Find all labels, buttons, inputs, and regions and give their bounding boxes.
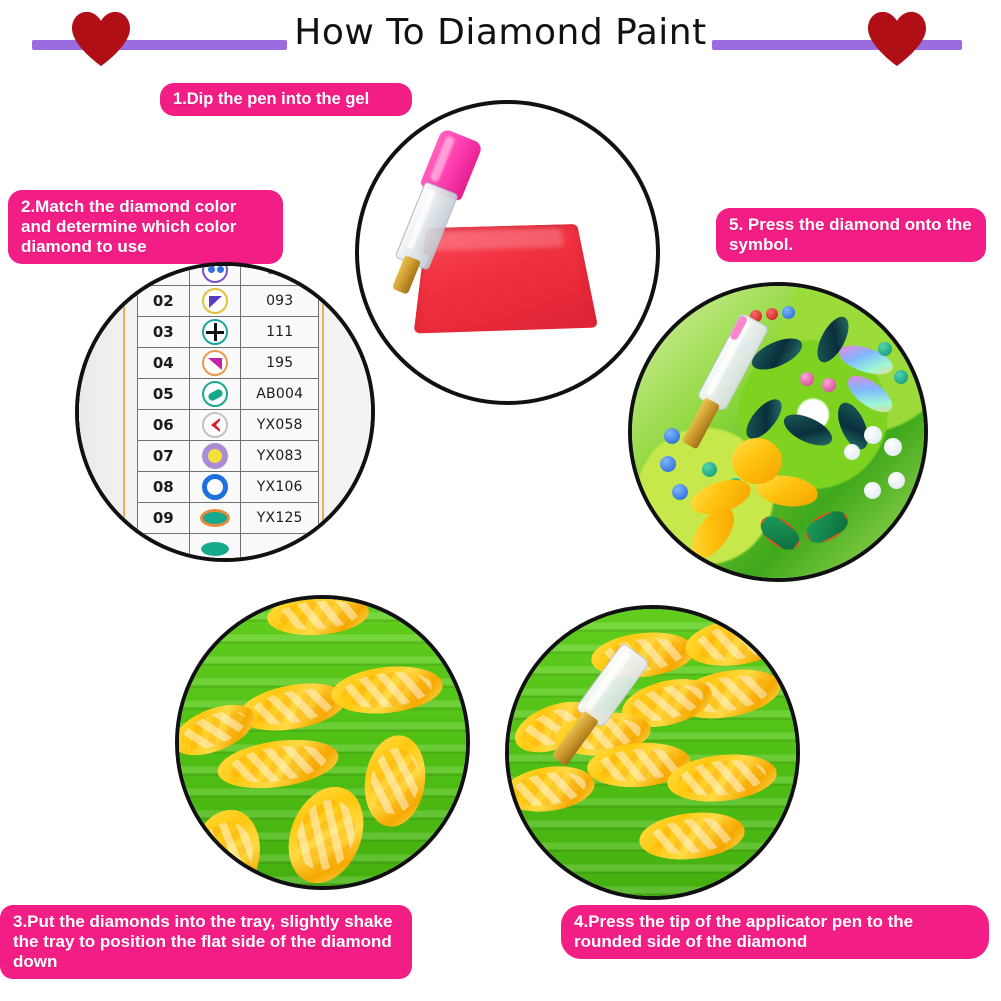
page-title: How To Diamond Paint	[0, 12, 1001, 53]
row-id: 07	[138, 441, 190, 472]
table-row: 03 111	[138, 317, 319, 348]
step-1-photo	[355, 100, 660, 405]
table-row: 04 195	[138, 348, 319, 379]
table-row: 02 093	[138, 286, 319, 317]
row-id: 03	[138, 317, 190, 348]
filled-dot-icon	[189, 441, 241, 472]
unplaced-symbol	[878, 342, 892, 356]
diamond-under-pen	[732, 438, 782, 484]
row-code: 195	[241, 348, 319, 379]
table-row: 06 YX058	[138, 410, 319, 441]
row-id: 06	[138, 410, 190, 441]
pen-tip	[682, 397, 720, 449]
row-code: AB004	[241, 379, 319, 410]
row-id: 08	[138, 472, 190, 503]
row-code: 028	[241, 262, 319, 286]
unplaced-symbol	[894, 370, 908, 384]
row-code	[241, 534, 319, 563]
row-id	[138, 534, 190, 563]
placed-diamond	[782, 306, 795, 319]
pen-tip	[551, 711, 598, 767]
row-code: YX106	[241, 472, 319, 503]
row-id: 09	[138, 503, 190, 534]
chevron-left-icon	[189, 410, 241, 441]
placed-diamond	[864, 482, 881, 499]
placed-diamond	[844, 444, 860, 460]
infographic-root: How To Diamond Paint 1.Dip the pen into …	[0, 0, 1001, 1001]
chart-margin-line	[123, 266, 125, 558]
placed-diamond	[864, 426, 882, 444]
chart-margin-line	[322, 266, 324, 558]
row-id: 04	[138, 348, 190, 379]
step-2-photo: 028 02 093 03	[75, 262, 375, 562]
table-row: 08 YX106	[138, 472, 319, 503]
placed-diamond	[888, 472, 905, 489]
row-id	[138, 262, 190, 286]
step-5-photo	[628, 282, 928, 582]
placed-diamond	[884, 438, 902, 456]
pill-icon	[189, 379, 241, 410]
leaf-icon	[189, 503, 241, 534]
table-row: 05 AB004	[138, 379, 319, 410]
diamond-color-chart-table: 028 02 093 03	[137, 262, 319, 562]
placed-diamond	[766, 308, 778, 320]
placed-diamond	[800, 372, 814, 386]
row-code: 093	[241, 286, 319, 317]
step-4-photo	[505, 605, 800, 900]
row-code: YX083	[241, 441, 319, 472]
placed-diamond	[822, 378, 836, 392]
header: How To Diamond Paint	[0, 0, 1001, 78]
triangle-down-icon	[189, 348, 241, 379]
row-code: YX058	[241, 410, 319, 441]
unplaced-symbol	[672, 484, 688, 500]
triangle-icon	[189, 286, 241, 317]
step-5-label: 5. Press the diamond onto the symbol.	[716, 208, 986, 262]
table-row: 09 YX125	[138, 503, 319, 534]
step-3-label: 3.Put the diamonds into the tray, slight…	[0, 905, 412, 979]
table-row: 07 YX083	[138, 441, 319, 472]
row-code: YX125	[241, 503, 319, 534]
row-id: 05	[138, 379, 190, 410]
step-2-label: 2.Match the diamond color and determine …	[8, 190, 283, 264]
leaf-icon	[189, 534, 241, 563]
table-row: 028	[138, 262, 319, 286]
step-4-label: 4.Press the tip of the applicator pen to…	[561, 905, 989, 959]
double-dot-circle-icon	[189, 262, 241, 286]
row-id: 02	[138, 286, 190, 317]
table-row	[138, 534, 319, 563]
pen-tip	[392, 255, 421, 295]
ring-icon	[189, 472, 241, 503]
row-code: 111	[241, 317, 319, 348]
step-3-photo	[175, 595, 470, 890]
cross-icon	[189, 317, 241, 348]
